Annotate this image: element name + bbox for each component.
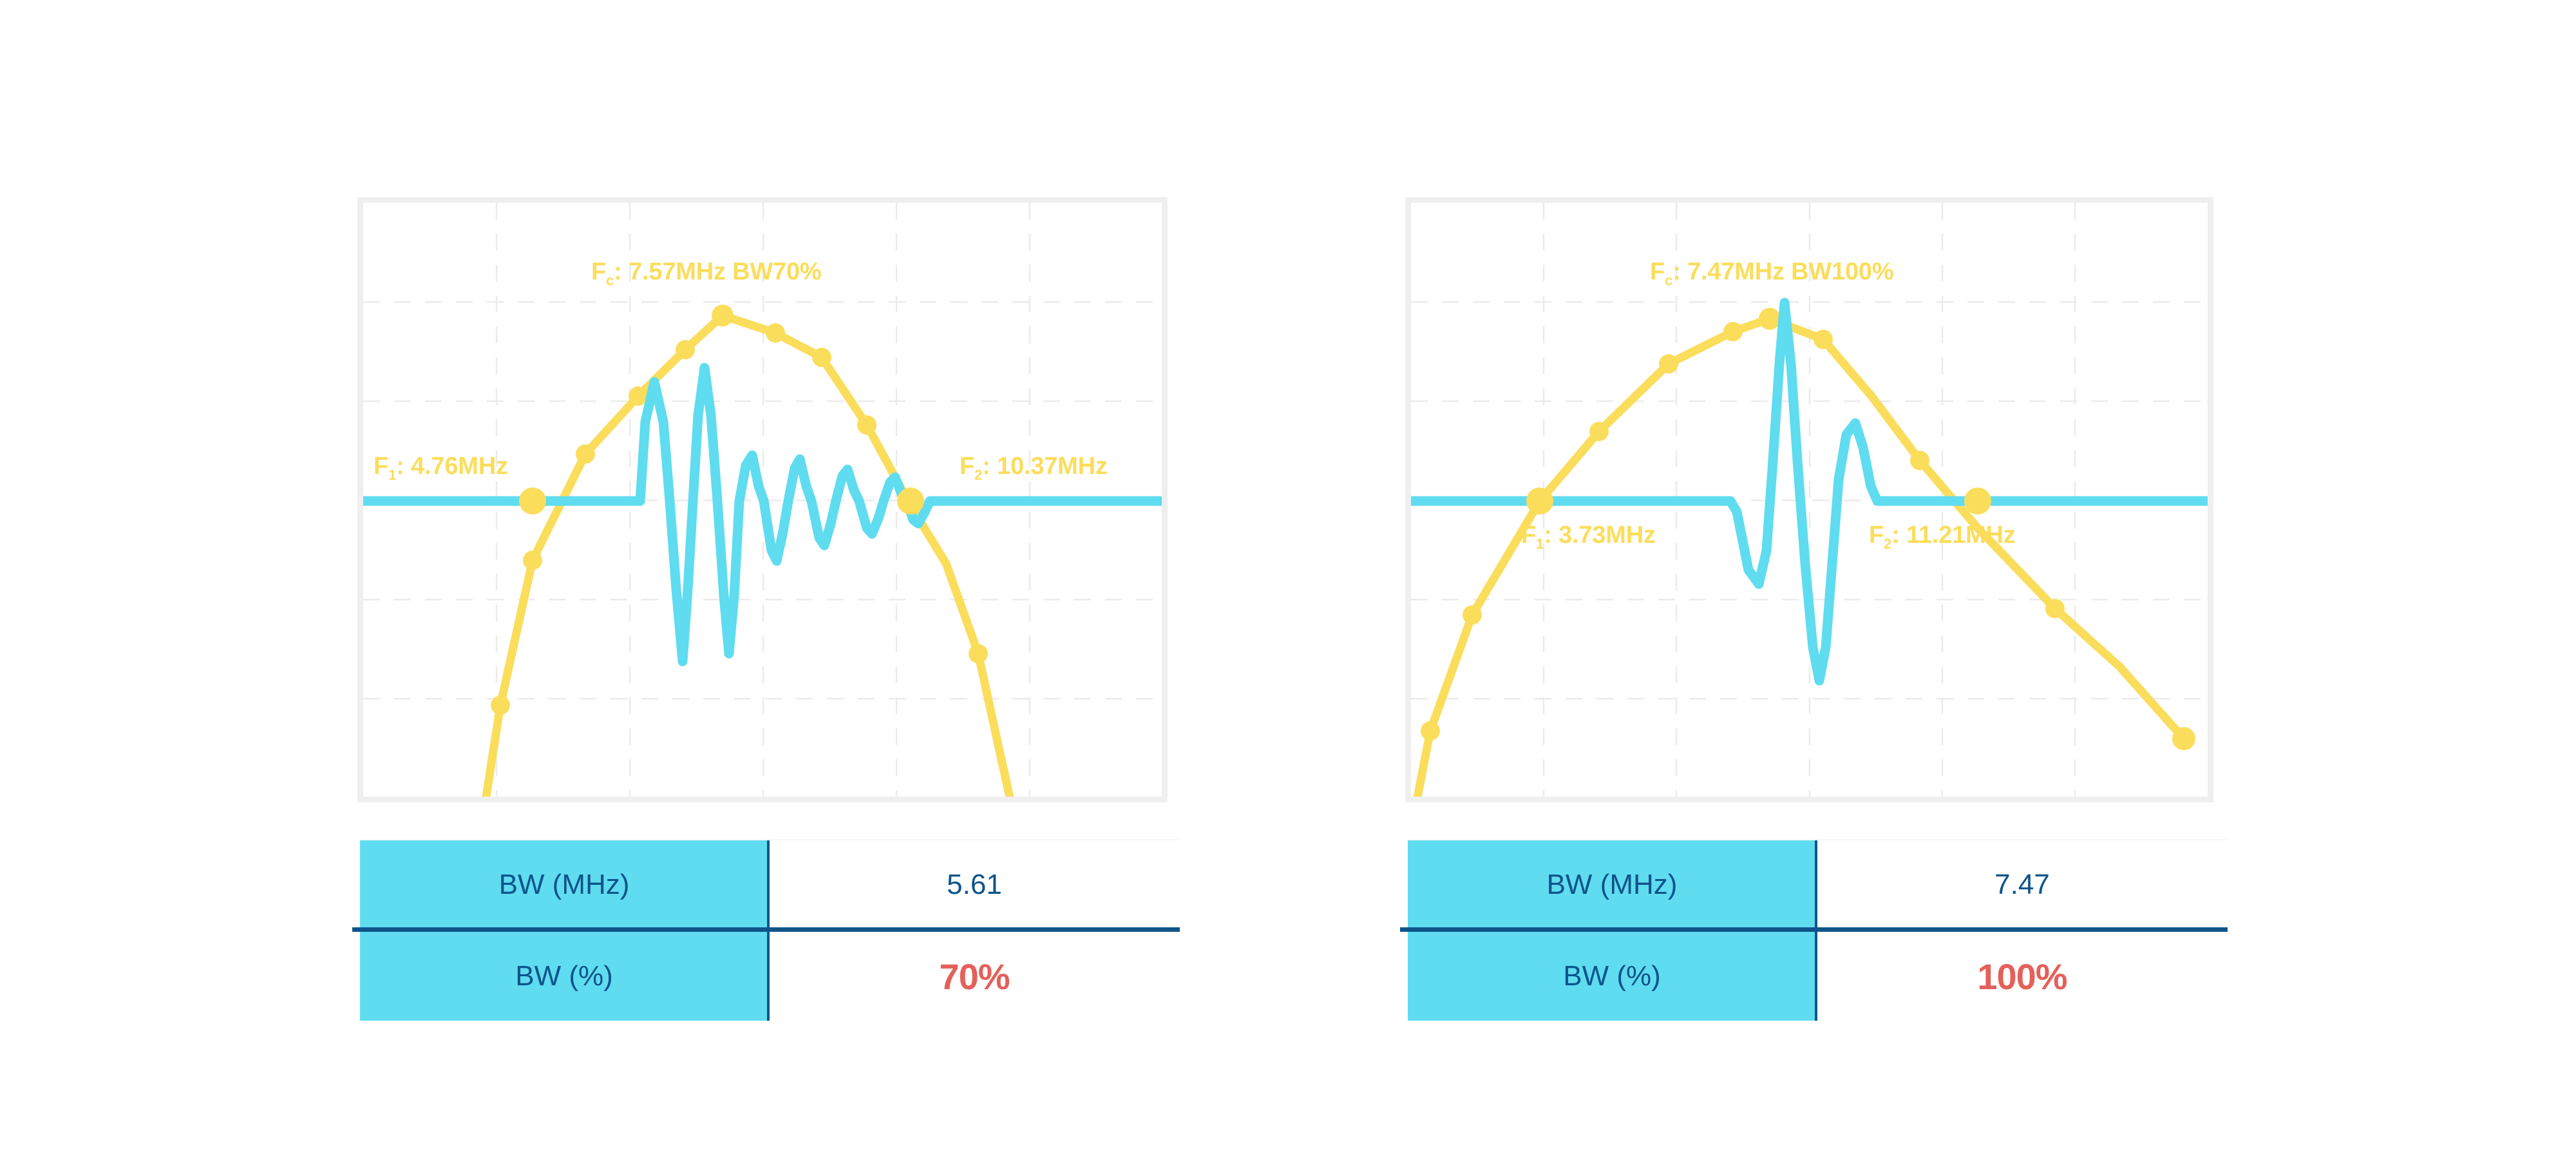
left-f1-prefix: F (374, 453, 388, 480)
right-f2-text: : 11.21MHz (1891, 522, 2015, 549)
left-table-divider (352, 927, 1180, 932)
right-row1-key: BW (%) (1408, 932, 1816, 1021)
right-fc-label: Fc: 7.47MHz BW100% (1650, 260, 1893, 284)
left-row1-value: 70% (768, 932, 1180, 1021)
right-fc-prefix: F (1650, 258, 1665, 285)
right-f2-marker (1964, 487, 1991, 515)
right-fc-sub: c (1665, 272, 1672, 288)
right-f1-prefix: F (1521, 522, 1536, 549)
left-fc-text: : 7.57MHz BW70% (614, 258, 821, 285)
left-row0-key: BW (MHz) (360, 840, 768, 929)
left-f1-marker (519, 487, 546, 515)
right-table-column-divider (1815, 840, 1817, 1021)
right-row1-value: 100% (1816, 932, 2228, 1021)
right-f2-label: F2: 11.21MHz (1869, 523, 2016, 547)
left-f2-label: F2: 10.37MHz (960, 454, 1108, 478)
left-f2-marker (897, 487, 924, 515)
right-f1-sub: 1 (1536, 536, 1544, 552)
left-spectrum-curve (482, 316, 1014, 797)
right-plot-frame (1405, 197, 2213, 802)
left-table-column-divider (767, 840, 770, 1021)
left-row1-key: BW (%) (360, 932, 768, 1021)
left-fc-sub: c (606, 272, 614, 288)
right-f1-marker (1526, 487, 1553, 515)
right-fc-text: : 7.47MHz BW100% (1672, 258, 1893, 285)
left-row0-value: 5.61 (768, 840, 1180, 929)
right-f1-label: F1: 3.73MHz (1521, 523, 1656, 547)
left-f1-sub: 1 (388, 467, 396, 483)
left-plot-frame (357, 197, 1168, 802)
left-f1-label: F1: 4.76MHz (374, 454, 508, 478)
table-row: BW (MHz) 7.47 (1408, 840, 2228, 929)
table-row: BW (%) 70% (360, 932, 1180, 1021)
right-table-divider (1400, 927, 2228, 932)
left-f2-prefix: F (960, 453, 974, 480)
right-row0-key: BW (MHz) (1408, 840, 1816, 929)
left-plot-svg (363, 203, 1162, 797)
right-f1-text: : 3.73MHz (1544, 522, 1655, 549)
right-row0-value: 7.47 (1816, 840, 2228, 929)
left-fc-prefix: F (591, 258, 606, 285)
figure-root: Fc: 7.57MHz BW70% F1: 4.76MHz F2: 10.37M… (0, 0, 2576, 1154)
left-f2-sub: 2 (974, 467, 982, 483)
left-fc-label: Fc: 7.57MHz BW70% (591, 260, 821, 284)
right-f2-sub: 2 (1884, 536, 1891, 552)
right-plot-svg (1411, 203, 2208, 797)
table-row: BW (%) 100% (1408, 932, 2228, 1021)
left-f1-text: : 4.76MHz (396, 453, 507, 480)
right-plot-area (1411, 203, 2208, 797)
right-f2-prefix: F (1869, 522, 1884, 549)
table-row: BW (MHz) 5.61 (360, 840, 1180, 929)
left-f2-text: : 10.37MHz (982, 453, 1107, 480)
left-plot-area (363, 203, 1162, 797)
